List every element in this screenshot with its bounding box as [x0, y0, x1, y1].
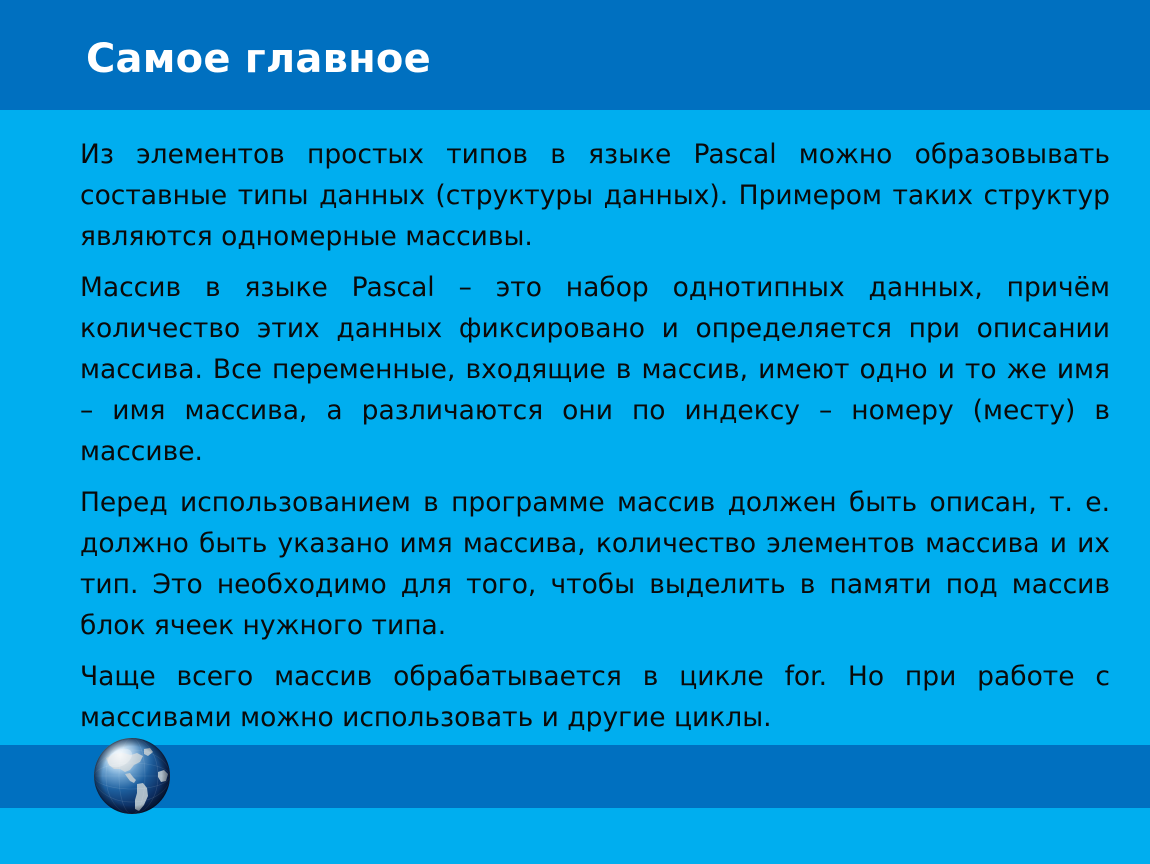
body-paragraph: Из элементов простых типов в языке Pasca…: [80, 134, 1110, 257]
body-paragraph: Чаще всего массив обрабатывается в цикле…: [80, 656, 1110, 738]
body-paragraph: Перед использованием в программе массив …: [80, 482, 1110, 646]
footer-band: [0, 745, 1150, 808]
body-paragraph: Массив в языке Pascal – это набор одноти…: [80, 267, 1110, 472]
presentation-slide: Самое главное Из элементов простых типов…: [0, 0, 1150, 864]
body-content: Из элементов простых типов в языке Pasca…: [80, 134, 1110, 738]
globe-icon: [92, 736, 172, 816]
page-title: Самое главное: [86, 36, 431, 82]
